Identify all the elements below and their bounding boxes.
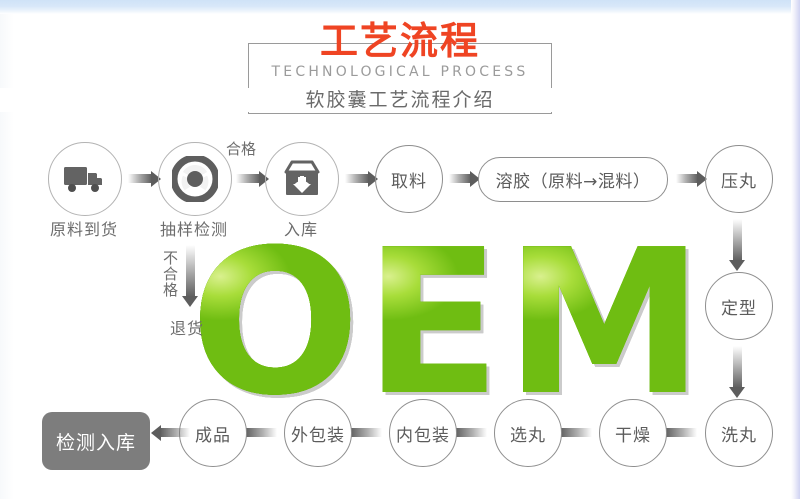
node-pill-pressing-label: 压丸 [721, 167, 757, 192]
node-material-retrieval-label: 取料 [391, 167, 427, 192]
oem-watermark: O E M [196, 238, 696, 410]
page-subtitle-cn-text: 软胶囊工艺流程介绍 [299, 89, 500, 111]
caption-sampling-inspection: 抽样检测 [138, 216, 250, 240]
arrow-gel-to-pressing [676, 174, 698, 183]
page-subtitle-cn: 软胶囊工艺流程介绍 [0, 88, 800, 112]
inbox-down-arrow-icon [282, 160, 322, 198]
arrow-selection-to-inner-packaging [455, 428, 487, 437]
label-qualified: 合格 [226, 138, 256, 159]
header: 工艺流程 TECHNOLOGICAL PROCESS 软胶囊工艺流程介绍 [0, 20, 800, 110]
page-title: 工艺流程 [0, 20, 800, 62]
label-return-goods: 退货 [150, 315, 224, 339]
node-shaping-label: 定型 [721, 294, 757, 319]
node-drying-label: 干燥 [615, 421, 651, 446]
node-shaping[interactable]: 定型 [705, 272, 773, 340]
truck-icon [63, 164, 107, 194]
node-gel-dissolving[interactable]: 溶胶（原料→混料） [478, 157, 668, 202]
oem-letter-m: M [505, 239, 702, 409]
node-pill-selection[interactable]: 选丸 [494, 399, 562, 467]
arrow-washing-to-drying [665, 428, 697, 437]
node-gel-dissolving-label: 溶胶（原料→混料） [496, 167, 651, 192]
node-raw-material-arrival[interactable] [48, 142, 122, 216]
node-outer-packaging-label: 外包装 [291, 421, 345, 446]
node-warehouse-in[interactable] [265, 142, 339, 216]
node-outer-packaging[interactable]: 外包装 [284, 399, 352, 467]
caption-raw-material-arrival: 原料到货 [28, 216, 140, 240]
arrow-sampling-to-return [186, 245, 195, 297]
arrow-shaping-to-washing [733, 346, 742, 388]
sampling-inspection-icon [172, 156, 218, 202]
node-pill-washing-label: 洗丸 [721, 421, 757, 446]
arrow-arrival-to-sampling [128, 174, 152, 183]
node-inner-packaging[interactable]: 内包装 [389, 399, 457, 467]
process-flow-infographic: 工艺流程 TECHNOLOGICAL PROCESS 软胶囊工艺流程介绍 O E… [0, 0, 800, 499]
arrow-sampling-to-warehouse [236, 174, 260, 183]
arrow-inner-to-outer-packaging [350, 428, 382, 437]
node-sampling-inspection[interactable] [158, 142, 232, 216]
arrow-retrieval-to-gel [449, 174, 471, 183]
arrow-finished-to-inspection-storage [160, 428, 190, 437]
right-edge-band [791, 0, 800, 499]
node-material-retrieval[interactable]: 取料 [375, 145, 443, 213]
oem-letter-e: E [364, 239, 499, 409]
label-unqualified: 不合格 [160, 250, 181, 298]
top-blue-band [0, 0, 800, 14]
arrow-pressing-to-shaping [733, 219, 742, 261]
arrow-outer-packaging-to-finished [245, 428, 277, 437]
node-pill-selection-label: 选丸 [510, 421, 546, 446]
caption-warehouse-in: 入库 [258, 216, 344, 240]
page-subtitle-en: TECHNOLOGICAL PROCESS [0, 64, 800, 80]
arrow-warehouse-to-retrieval [345, 174, 369, 183]
header-bracket-bottom [248, 113, 552, 114]
node-pill-pressing[interactable]: 压丸 [705, 145, 773, 213]
node-drying[interactable]: 干燥 [599, 399, 667, 467]
node-pill-washing[interactable]: 洗丸 [705, 399, 773, 467]
node-inner-packaging-label: 内包装 [396, 421, 450, 446]
node-inspection-storage[interactable]: 检测入库 [42, 412, 150, 470]
node-finished-product-label: 成品 [195, 421, 231, 446]
arrow-drying-to-selection [560, 428, 592, 437]
node-inspection-storage-label: 检测入库 [56, 428, 136, 455]
